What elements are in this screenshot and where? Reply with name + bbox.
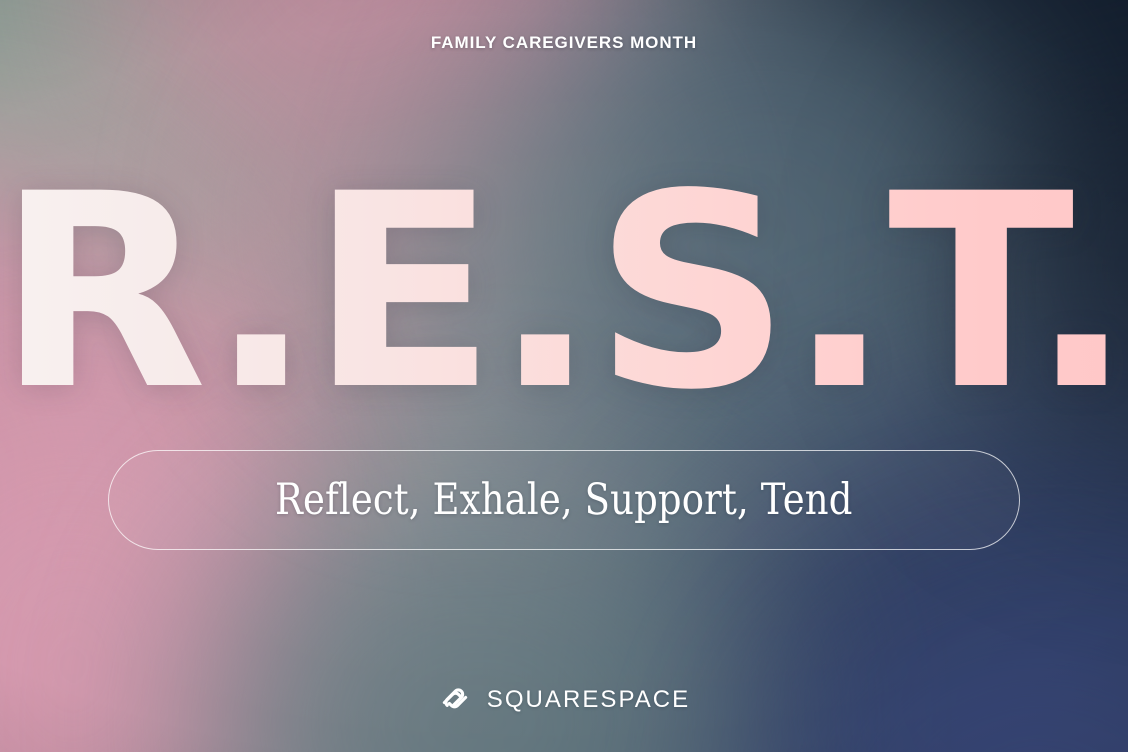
squarespace-wordmark: SQUARESPACE (487, 688, 690, 712)
squarespace-logo-icon (438, 683, 472, 717)
promo-canvas: FAMILY CAREGIVERS MONTH R.E.S.T. Reflect… (0, 0, 1128, 752)
page-title: R.E.S.T. (0, 168, 1128, 418)
subtitle-text: Reflect, Exhale, Support, Tend (275, 479, 853, 522)
headline-container: R.E.S.T. (0, 168, 1128, 418)
brand-footer: SQUARESPACE (0, 683, 1128, 717)
subtitle-pill: Reflect, Exhale, Support, Tend (108, 450, 1020, 550)
content-layer: FAMILY CAREGIVERS MONTH R.E.S.T. Reflect… (0, 0, 1128, 752)
eyebrow-label: FAMILY CAREGIVERS MONTH (0, 34, 1128, 51)
